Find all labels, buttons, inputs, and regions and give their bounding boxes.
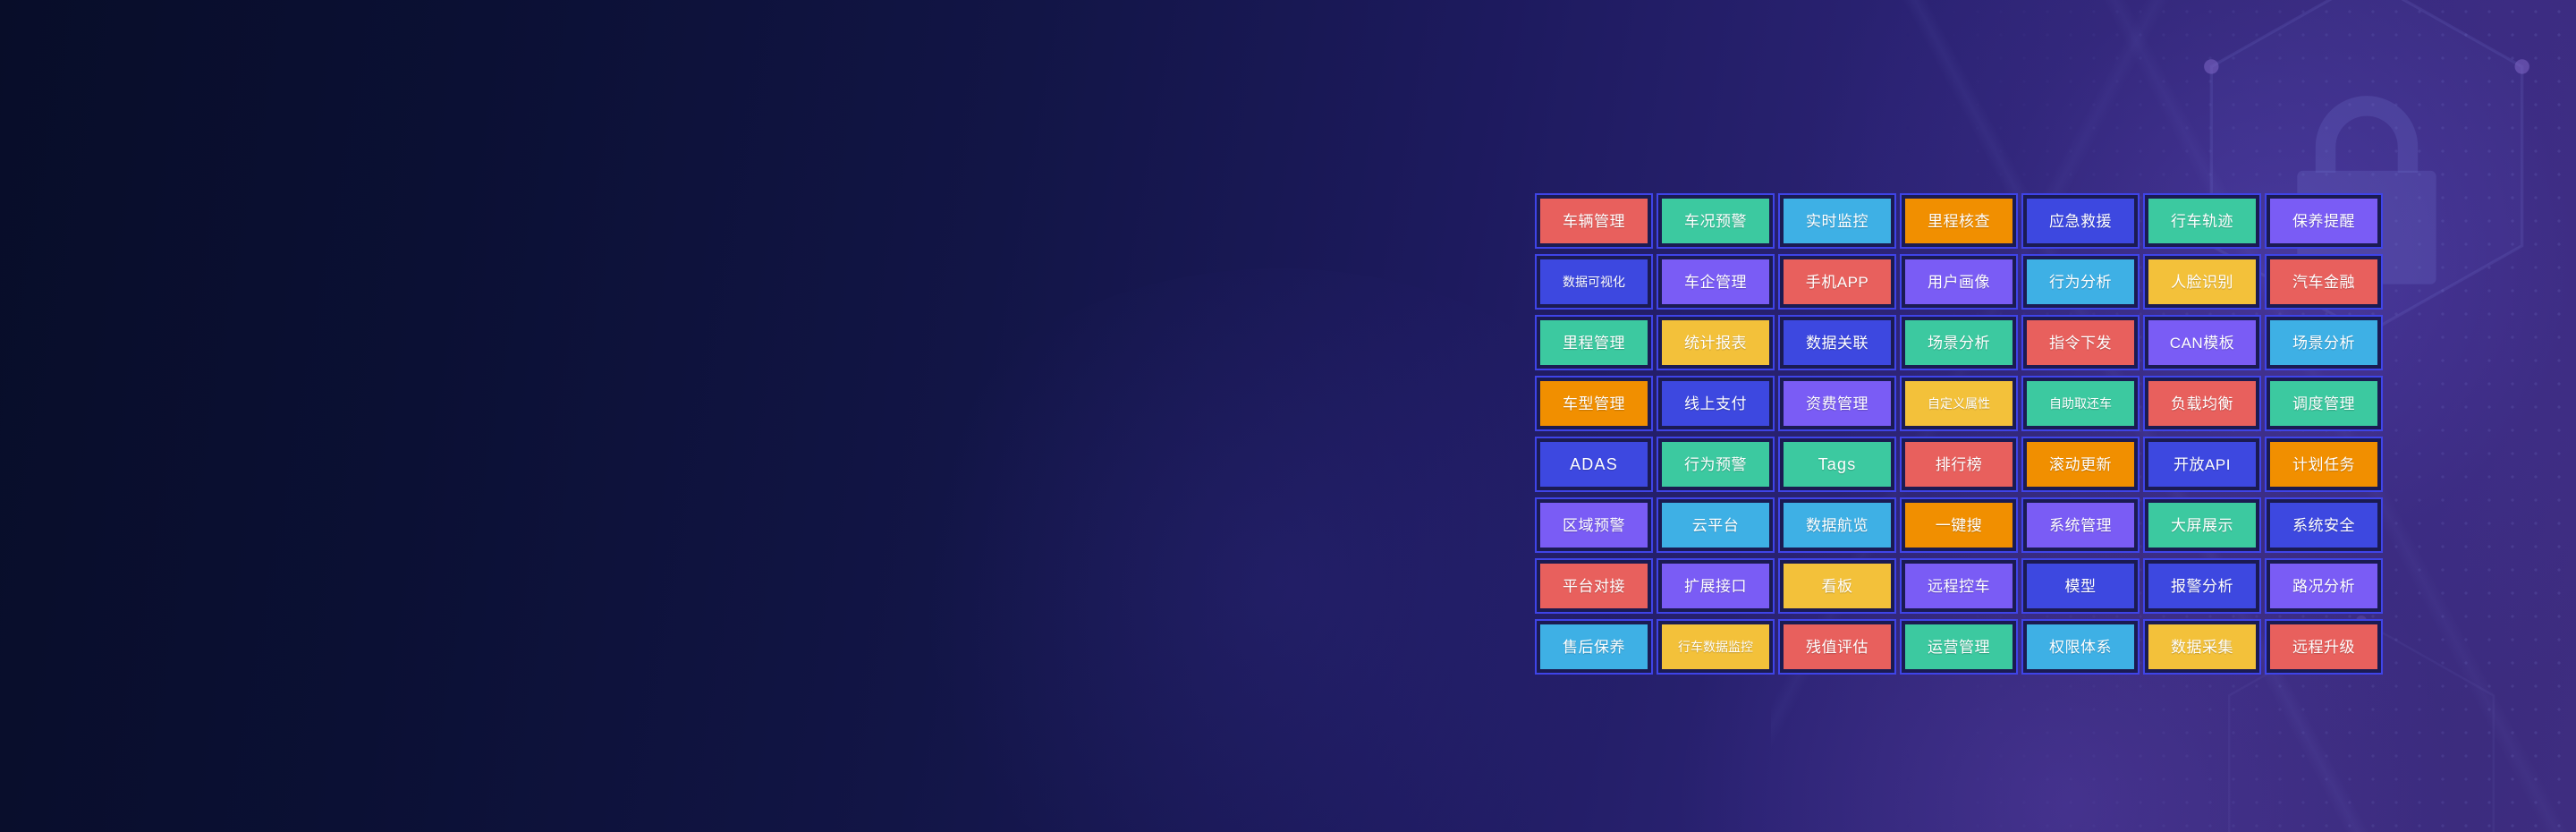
feature-tile-label: 云平台 — [1692, 518, 1740, 533]
feature-tile-label: 开放API — [2173, 457, 2231, 472]
feature-tile[interactable]: 远程升级 — [2265, 619, 2383, 675]
feature-tile-fill: 区域预警 — [1540, 503, 1648, 548]
feature-tile-fill: 开放API — [2148, 442, 2256, 487]
feature-tile[interactable]: 数据航览 — [1778, 497, 1896, 553]
feature-tile-fill: 应急救援 — [2027, 199, 2134, 243]
feature-tile-grid: 车辆管理车况预警实时监控里程核查应急救援行车轨迹保养提醒数据可视化车企管理手机A… — [1535, 193, 2383, 675]
feature-tile[interactable]: 开放API — [2143, 437, 2261, 492]
feature-tile[interactable]: 里程管理 — [1535, 315, 1653, 370]
feature-tile-fill: 残值评估 — [1784, 624, 1891, 669]
feature-tile-fill: 数据可视化 — [1540, 259, 1648, 304]
feature-tile-label: 用户画像 — [1928, 275, 1990, 290]
feature-tile[interactable]: 场景分析 — [2265, 315, 2383, 370]
feature-tile[interactable]: 模型 — [2021, 558, 2140, 614]
feature-tile-fill: 调度管理 — [2270, 381, 2377, 426]
feature-tile[interactable]: 保养提醒 — [2265, 193, 2383, 249]
feature-tile-fill: 系统安全 — [2270, 503, 2377, 548]
feature-tile[interactable]: 数据关联 — [1778, 315, 1896, 370]
feature-tile[interactable]: 负载均衡 — [2143, 376, 2261, 431]
feature-tile-label: 应急救援 — [2049, 214, 2112, 229]
feature-tile-fill: 车型管理 — [1540, 381, 1648, 426]
feature-tile[interactable]: 系统管理 — [2021, 497, 2140, 553]
feature-tile[interactable]: 行为预警 — [1657, 437, 1775, 492]
feature-tile-label: 模型 — [2065, 579, 2097, 594]
feature-tile[interactable]: 区域预警 — [1535, 497, 1653, 553]
feature-tile-label: 一键搜 — [1936, 518, 1983, 533]
feature-tile[interactable]: CAN模板 — [2143, 315, 2261, 370]
feature-tile-fill: Tags — [1784, 442, 1891, 487]
feature-tile[interactable]: 统计报表 — [1657, 315, 1775, 370]
feature-tile[interactable]: 车企管理 — [1657, 254, 1775, 310]
feature-tile-label: 调度管理 — [2292, 396, 2355, 412]
feature-tile-label: 大屏展示 — [2171, 518, 2233, 533]
feature-tile-label: 统计报表 — [1684, 335, 1747, 351]
feature-tile-label: 系统安全 — [2292, 518, 2355, 533]
feature-tile[interactable]: 扩展接口 — [1657, 558, 1775, 614]
feature-tile-label: 数据航览 — [1806, 518, 1868, 533]
feature-tile-label: 线上支付 — [1684, 396, 1747, 412]
feature-tile[interactable]: 应急救援 — [2021, 193, 2140, 249]
feature-tile-label: 实时监控 — [1806, 214, 1868, 229]
feature-tile-fill: 车况预警 — [1662, 199, 1769, 243]
feature-tile-fill: 模型 — [2027, 564, 2134, 608]
feature-tile-label: 场景分析 — [1928, 335, 1990, 351]
feature-tile[interactable]: 云平台 — [1657, 497, 1775, 553]
feature-tile-label: 车况预警 — [1684, 214, 1747, 229]
feature-tile[interactable]: 汽车金融 — [2265, 254, 2383, 310]
feature-tile-label: 车型管理 — [1563, 396, 1625, 412]
feature-tile-fill: 行为分析 — [2027, 259, 2134, 304]
feature-tile[interactable]: 看板 — [1778, 558, 1896, 614]
feature-tile-fill: 指令下发 — [2027, 320, 2134, 365]
feature-tile[interactable]: 计划任务 — [2265, 437, 2383, 492]
feature-tile[interactable]: 滚动更新 — [2021, 437, 2140, 492]
feature-tile-label: 汽车金融 — [2292, 275, 2355, 290]
feature-tile[interactable]: 报警分析 — [2143, 558, 2261, 614]
feature-tile-fill: 一键搜 — [1905, 503, 2012, 548]
feature-tile[interactable]: 自定义属性 — [1900, 376, 2018, 431]
feature-tile-fill: 扩展接口 — [1662, 564, 1769, 608]
feature-tile[interactable]: 自助取还车 — [2021, 376, 2140, 431]
feature-tile-label: 行车轨迹 — [2171, 214, 2233, 229]
feature-tile-label: 资费管理 — [1806, 396, 1868, 412]
feature-tile-label: Tags — [1818, 456, 1857, 472]
feature-tile[interactable]: 实时监控 — [1778, 193, 1896, 249]
feature-tile-fill: 统计报表 — [1662, 320, 1769, 365]
feature-tile-label: CAN模板 — [2170, 335, 2234, 351]
feature-tile-fill: 保养提醒 — [2270, 199, 2377, 243]
feature-tile-label: 车辆管理 — [1563, 214, 1625, 229]
feature-tile-label: 残值评估 — [1806, 640, 1868, 655]
feature-tile[interactable]: 用户画像 — [1900, 254, 2018, 310]
feature-tile-fill: 数据关联 — [1784, 320, 1891, 365]
feature-tile-fill: 售后保养 — [1540, 624, 1648, 669]
feature-tile[interactable]: 行车数据监控 — [1657, 619, 1775, 675]
feature-tile[interactable]: 调度管理 — [2265, 376, 2383, 431]
feature-tile-label: 系统管理 — [2049, 518, 2112, 533]
feature-tile-label: 保养提醒 — [2292, 214, 2355, 229]
feature-tile-label: 区域预警 — [1563, 518, 1625, 533]
feature-tile-fill: 人脸识别 — [2148, 259, 2256, 304]
feature-tile-label: 数据采集 — [2171, 640, 2233, 655]
feature-tile-label: 路况分析 — [2292, 579, 2355, 594]
feature-tile-fill: 车企管理 — [1662, 259, 1769, 304]
feature-tile-fill: 数据采集 — [2148, 624, 2256, 669]
feature-tile-fill: 排行榜 — [1905, 442, 2012, 487]
feature-tile-fill: 行车轨迹 — [2148, 199, 2256, 243]
feature-tile-label: 运营管理 — [1928, 640, 1990, 655]
feature-tile[interactable]: 权限体系 — [2021, 619, 2140, 675]
feature-tile-label: 行为分析 — [2049, 275, 2112, 290]
feature-tile-label: 售后保养 — [1563, 640, 1625, 655]
feature-tile-label: 里程核查 — [1928, 214, 1990, 229]
feature-tile-label: 平台对接 — [1563, 579, 1625, 594]
feature-tile-fill: 报警分析 — [2148, 564, 2256, 608]
feature-tile[interactable]: ADAS — [1535, 437, 1653, 492]
feature-tile-label: 报警分析 — [2171, 579, 2233, 594]
feature-tile[interactable]: Tags — [1778, 437, 1896, 492]
feature-tile-fill: 车辆管理 — [1540, 199, 1648, 243]
feature-tile-fill: 路况分析 — [2270, 564, 2377, 608]
feature-tile-fill: 计划任务 — [2270, 442, 2377, 487]
feature-tile-fill: 云平台 — [1662, 503, 1769, 548]
feature-tile[interactable]: 手机APP — [1778, 254, 1896, 310]
feature-tile-label: 远程升级 — [2292, 640, 2355, 655]
feature-tile-fill: 实时监控 — [1784, 199, 1891, 243]
feature-tile-fill: 自助取还车 — [2027, 381, 2134, 426]
feature-tile[interactable]: 平台对接 — [1535, 558, 1653, 614]
feature-tile-fill: 滚动更新 — [2027, 442, 2134, 487]
feature-tile-label: 排行榜 — [1936, 457, 1983, 472]
feature-tile-label: 场景分析 — [2292, 335, 2355, 351]
feature-tile-label: 权限体系 — [2049, 640, 2112, 655]
feature-tile[interactable]: 资费管理 — [1778, 376, 1896, 431]
feature-tile[interactable]: 排行榜 — [1900, 437, 2018, 492]
feature-tile-label: ADAS — [1570, 456, 1618, 472]
feature-tile-fill: 运营管理 — [1905, 624, 2012, 669]
app-stage: 车辆管理车况预警实时监控里程核查应急救援行车轨迹保养提醒数据可视化车企管理手机A… — [0, 0, 2576, 832]
feature-tile-fill: 里程核查 — [1905, 199, 2012, 243]
feature-tile-label: 数据可视化 — [1563, 276, 1625, 288]
feature-tile-fill: 系统管理 — [2027, 503, 2134, 548]
feature-tile-label: 指令下发 — [2049, 335, 2112, 351]
feature-tile-fill: 数据航览 — [1784, 503, 1891, 548]
feature-tile-fill: 汽车金融 — [2270, 259, 2377, 304]
feature-tile-label: 计划任务 — [2292, 457, 2355, 472]
feature-tile-fill: 负载均衡 — [2148, 381, 2256, 426]
feature-tile[interactable]: 线上支付 — [1657, 376, 1775, 431]
feature-tile[interactable]: 里程核查 — [1900, 193, 2018, 249]
feature-tile-label: 自定义属性 — [1928, 397, 1990, 410]
feature-tile-label: 滚动更新 — [2049, 457, 2112, 472]
feature-tile[interactable]: 场景分析 — [1900, 315, 2018, 370]
feature-tile-fill: 线上支付 — [1662, 381, 1769, 426]
feature-tile-label: 远程控车 — [1928, 579, 1990, 594]
feature-tile[interactable]: 车辆管理 — [1535, 193, 1653, 249]
feature-tile-fill: 行为预警 — [1662, 442, 1769, 487]
feature-tile-label: 手机APP — [1806, 275, 1869, 290]
feature-tile-fill: 里程管理 — [1540, 320, 1648, 365]
feature-tile-fill: 场景分析 — [2270, 320, 2377, 365]
feature-tile-fill: 手机APP — [1784, 259, 1891, 304]
feature-tile-fill: 场景分析 — [1905, 320, 2012, 365]
feature-tile[interactable]: 人脸识别 — [2143, 254, 2261, 310]
feature-tile-label: 负载均衡 — [2171, 396, 2233, 412]
feature-tile-label: 自助取还车 — [2049, 397, 2112, 410]
feature-tile-fill: CAN模板 — [2148, 320, 2256, 365]
feature-tile[interactable]: 路况分析 — [2265, 558, 2383, 614]
feature-tile-label: 里程管理 — [1563, 335, 1625, 351]
feature-tile[interactable]: 远程控车 — [1900, 558, 2018, 614]
feature-tile-fill: 自定义属性 — [1905, 381, 2012, 426]
feature-tile-label: 车企管理 — [1684, 275, 1747, 290]
feature-tile-fill: 远程升级 — [2270, 624, 2377, 669]
feature-tile[interactable]: 售后保养 — [1535, 619, 1653, 675]
feature-tile-label: 人脸识别 — [2171, 275, 2233, 290]
feature-tile[interactable]: 数据可视化 — [1535, 254, 1653, 310]
feature-tile-fill: 平台对接 — [1540, 564, 1648, 608]
feature-tile[interactable]: 行车轨迹 — [2143, 193, 2261, 249]
feature-tile-label: 看板 — [1822, 579, 1853, 594]
feature-tile-label: 行为预警 — [1684, 457, 1747, 472]
feature-tile-label: 扩展接口 — [1684, 579, 1747, 594]
feature-tile-fill: 权限体系 — [2027, 624, 2134, 669]
feature-tile-label: 数据关联 — [1806, 335, 1868, 351]
feature-tile[interactable]: 指令下发 — [2021, 315, 2140, 370]
feature-tile-fill: 大屏展示 — [2148, 503, 2256, 548]
feature-tile[interactable]: 一键搜 — [1900, 497, 2018, 553]
feature-tile[interactable]: 运营管理 — [1900, 619, 2018, 675]
feature-tile-fill: 行车数据监控 — [1662, 624, 1769, 669]
feature-tile-label: 行车数据监控 — [1678, 641, 1753, 653]
feature-tile[interactable]: 系统安全 — [2265, 497, 2383, 553]
feature-tile[interactable]: 残值评估 — [1778, 619, 1896, 675]
feature-tile-fill: 看板 — [1784, 564, 1891, 608]
feature-tile-fill: 远程控车 — [1905, 564, 2012, 608]
feature-tile[interactable]: 数据采集 — [2143, 619, 2261, 675]
feature-tile-fill: 资费管理 — [1784, 381, 1891, 426]
feature-tile-fill: ADAS — [1540, 442, 1648, 487]
feature-tile[interactable]: 车况预警 — [1657, 193, 1775, 249]
feature-tile[interactable]: 行为分析 — [2021, 254, 2140, 310]
feature-tile[interactable]: 大屏展示 — [2143, 497, 2261, 553]
feature-tile-fill: 用户画像 — [1905, 259, 2012, 304]
feature-tile[interactable]: 车型管理 — [1535, 376, 1653, 431]
